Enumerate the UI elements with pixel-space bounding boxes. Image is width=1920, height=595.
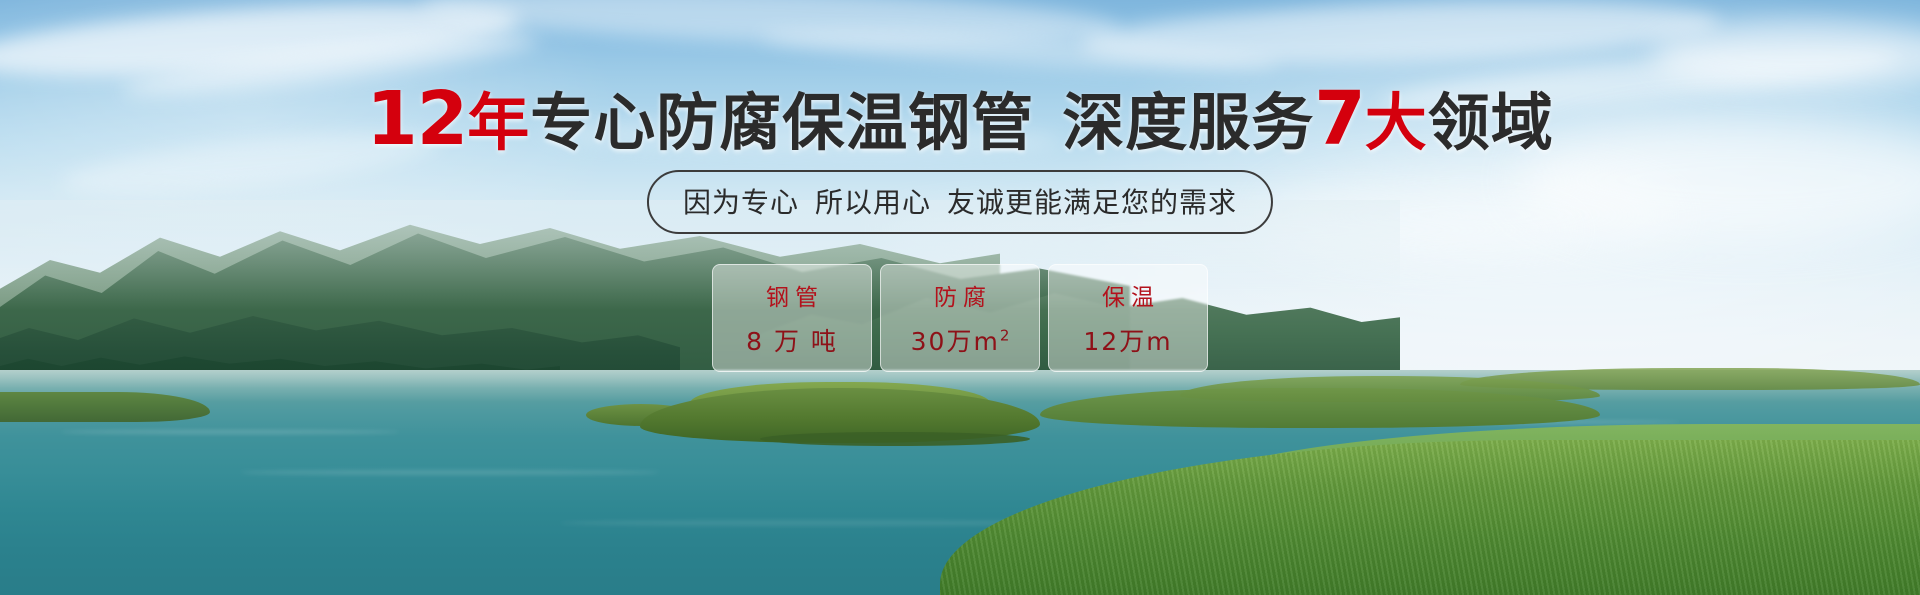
headline-fields-number: 7 xyxy=(1314,76,1365,162)
promo-banner: 12年专心防腐保温钢管深度服务7大领域 因为专心所以用心友诚更能满足您的需求 钢… xyxy=(0,0,1920,595)
stat-card-value: 12万m xyxy=(1083,322,1172,358)
subtitle-part-2: 所以用心 xyxy=(815,186,931,219)
subtitle-pill: 因为专心所以用心友诚更能满足您的需求 xyxy=(647,170,1273,234)
headline-fields-unit: 大 xyxy=(1365,86,1428,159)
stat-card-insulation: 保温 12万m xyxy=(1048,264,1208,372)
banner-content: 12年专心防腐保温钢管深度服务7大领域 因为专心所以用心友诚更能满足您的需求 钢… xyxy=(0,0,1920,595)
stat-card-value: 30万m2 xyxy=(911,322,1010,358)
subtitle-part-3: 友诚更能满足您的需求 xyxy=(947,186,1237,219)
headline-main-text: 专心防腐保温钢管 xyxy=(530,86,1034,159)
stat-card-label: 钢管 xyxy=(760,278,824,312)
stat-card-value: 8 万 吨 xyxy=(746,322,838,358)
subtitle-part-1: 因为专心 xyxy=(683,186,799,219)
headline-years-number: 12 xyxy=(366,76,467,162)
stat-value-text: 12万m xyxy=(1083,327,1172,356)
stat-card-anticorrosion: 防腐 30万m2 xyxy=(880,264,1040,372)
stat-card-label: 防腐 xyxy=(928,278,992,312)
headline-fields-text: 领域 xyxy=(1428,86,1554,159)
headline: 12年专心防腐保温钢管深度服务7大领域 xyxy=(0,82,1920,156)
headline-years-unit: 年 xyxy=(467,86,530,159)
stat-card-steel-pipe: 钢管 8 万 吨 xyxy=(712,264,872,372)
stats-cards: 钢管 8 万 吨 防腐 30万m2 保温 12万m xyxy=(712,264,1208,372)
headline-service-text: 深度服务 xyxy=(1062,86,1314,159)
stat-value-text: 30万m xyxy=(911,327,1000,356)
stat-card-label: 保温 xyxy=(1096,278,1160,312)
stat-value-text: 8 万 吨 xyxy=(746,327,838,356)
stat-value-superscript: 2 xyxy=(1000,327,1010,345)
